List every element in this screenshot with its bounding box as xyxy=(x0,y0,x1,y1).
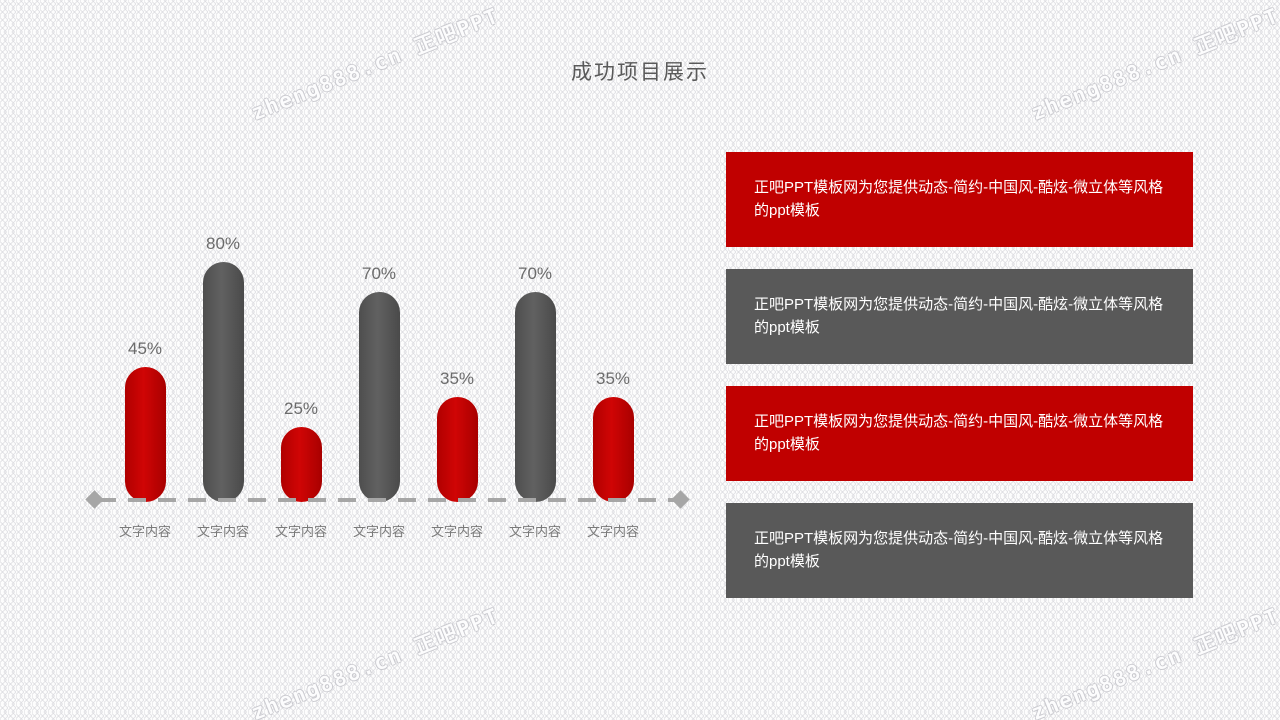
bar-column: 25%文字内容 xyxy=(262,172,340,502)
info-panel-text: 正吧PPT模板网为您提供动态-简约-中国风-酷炫-微立体等风格的ppt模板 xyxy=(754,294,1167,339)
slide-title: 成功项目展示 xyxy=(0,56,1280,86)
panel-list: 正吧PPT模板网为您提供动态-简约-中国风-酷炫-微立体等风格的ppt模板正吧P… xyxy=(726,152,1193,620)
axis-baseline xyxy=(98,498,678,502)
info-panel[interactable]: 正吧PPT模板网为您提供动态-简约-中国风-酷炫-微立体等风格的ppt模板 xyxy=(726,269,1193,364)
axis-arrow-right-icon xyxy=(671,490,689,508)
bar-chart: 45%文字内容80%文字内容25%文字内容70%文字内容35%文字内容70%文字… xyxy=(88,150,688,550)
bar-shape xyxy=(203,262,244,502)
info-panel[interactable]: 正吧PPT模板网为您提供动态-简约-中国风-酷炫-微立体等风格的ppt模板 xyxy=(726,503,1193,598)
bar-value-label: 70% xyxy=(518,265,552,282)
bar-shape xyxy=(437,397,478,502)
bar-category-label: 文字内容 xyxy=(418,521,496,540)
bar-category-label: 文字内容 xyxy=(262,521,340,540)
axis-arrow-left-icon xyxy=(85,490,103,508)
info-panel[interactable]: 正吧PPT模板网为您提供动态-简约-中国风-酷炫-微立体等风格的ppt模板 xyxy=(726,386,1193,481)
bar-column: 80%文字内容 xyxy=(184,172,262,502)
info-panel-text: 正吧PPT模板网为您提供动态-简约-中国风-酷炫-微立体等风格的ppt模板 xyxy=(754,411,1167,456)
bar-shape xyxy=(125,367,166,502)
bar-shape xyxy=(515,292,556,502)
bar-value-label: 45% xyxy=(128,340,162,357)
info-panel-text: 正吧PPT模板网为您提供动态-简约-中国风-酷炫-微立体等风格的ppt模板 xyxy=(754,528,1167,573)
bar-shape xyxy=(593,397,634,502)
bar-category-label: 文字内容 xyxy=(574,521,652,540)
bar-category-label: 文字内容 xyxy=(106,521,184,540)
bar-value-label: 35% xyxy=(596,370,630,387)
info-panel-text: 正吧PPT模板网为您提供动态-简约-中国风-酷炫-微立体等风格的ppt模板 xyxy=(754,177,1167,222)
bar-value-label: 35% xyxy=(440,370,474,387)
bar-value-label: 70% xyxy=(362,265,396,282)
bar-category-label: 文字内容 xyxy=(496,521,574,540)
watermark: zheng888.cn 正吧PPT xyxy=(246,600,504,720)
bar-column: 70%文字内容 xyxy=(496,172,574,502)
slide-canvas: zheng888.cn 正吧PPT zheng888.cn 正吧PPT zhen… xyxy=(0,0,1280,720)
bar-category-label: 文字内容 xyxy=(184,521,262,540)
bar-column: 70%文字内容 xyxy=(340,172,418,502)
bar-shape xyxy=(359,292,400,502)
info-panel[interactable]: 正吧PPT模板网为您提供动态-简约-中国风-酷炫-微立体等风格的ppt模板 xyxy=(726,152,1193,247)
bar-shape xyxy=(281,427,322,502)
bar-category-label: 文字内容 xyxy=(340,521,418,540)
bar-value-label: 25% xyxy=(284,400,318,417)
bar-column: 35%文字内容 xyxy=(574,172,652,502)
bar-column: 35%文字内容 xyxy=(418,172,496,502)
bar-value-label: 80% xyxy=(206,235,240,252)
bar-column: 45%文字内容 xyxy=(106,172,184,502)
